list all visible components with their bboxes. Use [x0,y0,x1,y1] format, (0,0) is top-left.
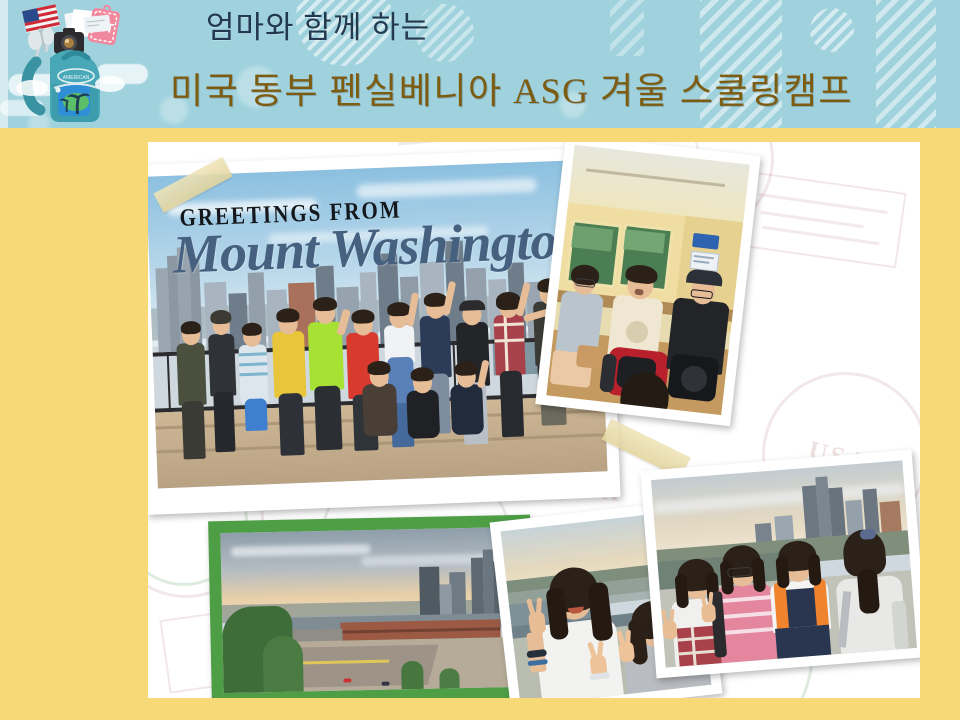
stamp-line-4 [398,142,548,146]
photo-students-with-skyline[interactable] [640,450,920,679]
header-deco-band-2 [876,0,936,128]
content-panel: WASHINGTON PITTSBURGH ARRIVAL USA [148,142,920,698]
stamp-line-2 [760,211,863,228]
header-deco-circle-3 [810,8,854,52]
slide-root: PIT [0,0,960,720]
photo-pittsburgh-city-overlook[interactable] [208,515,534,698]
header-title: 미국 동부 펜실베니아 ASG 겨울 스쿨링캠프 [170,70,853,112]
stamp-line-1 [758,193,887,214]
slide-header: PIT [0,0,960,128]
travel-backpack-logo: PIT [6,2,134,128]
stamp-line-3 [762,226,879,245]
photo-incline-car-interior[interactable] [535,142,761,426]
header-subtitle: 엄마와 함께 하는 [206,11,430,45]
stamp-rect-2 [743,172,906,269]
svg-text:AMERICAN: AMERICAN [63,75,90,81]
header-deco-band-3 [610,0,644,56]
